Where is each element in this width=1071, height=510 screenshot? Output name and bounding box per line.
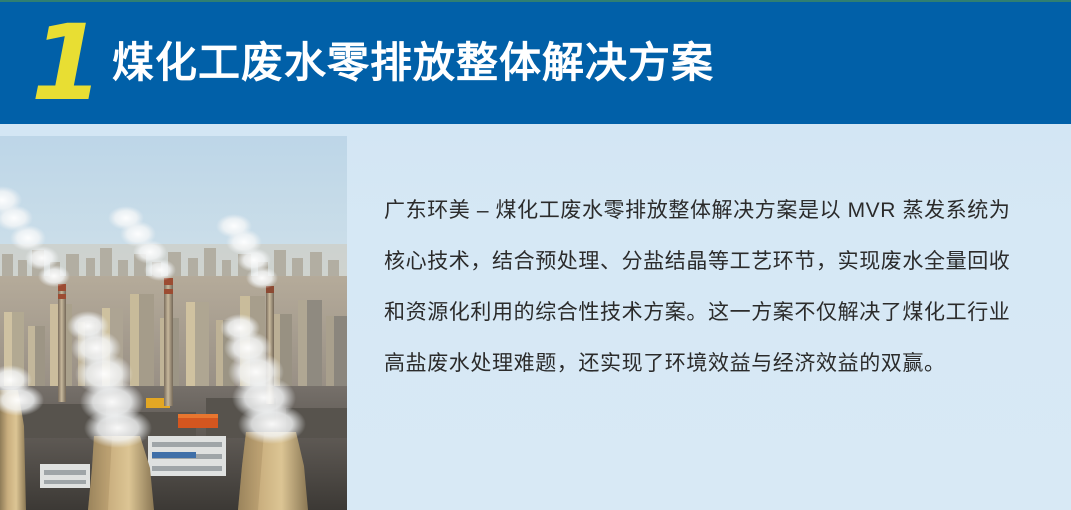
section-number: 1 [28,10,104,116]
section-header-banner: 1 煤化工废水零排放整体解决方案 [0,2,1071,124]
page-title: 煤化工废水零排放整体解决方案 [112,35,714,91]
industrial-plant-photo [0,136,347,510]
content-body: 广东环美 – 煤化工废水零排放整体解决方案是以 MVR 蒸发系统为核心技术，结合… [0,124,1071,510]
solution-description-paragraph: 广东环美 – 煤化工废水零排放整体解决方案是以 MVR 蒸发系统为核心技术，结合… [384,185,1014,389]
slide-page: 1 煤化工废水零排放整体解决方案 [0,0,1071,510]
